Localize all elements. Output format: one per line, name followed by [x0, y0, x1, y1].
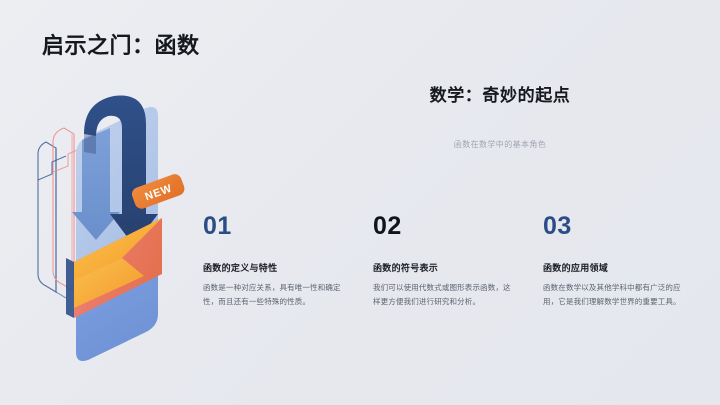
feature-body: 函数在数学以及其他学科中都有广泛的应用，它是我们理解数学世界的重要工具。: [543, 281, 685, 309]
hero-subtitle: 函数在数学中的基本角色: [335, 139, 665, 150]
hero-illustration: NEW: [22, 62, 232, 382]
feature-number: 01: [203, 214, 363, 239]
feature-heading: 函数的应用领域: [543, 261, 703, 274]
feature-heading: 函数的定义与特性: [203, 261, 363, 274]
feature-heading: 函数的符号表示: [373, 261, 533, 274]
feature-list: 01 函数的定义与特性 函数是一种对应关系，具有唯一性和确定性，而且还有一些特殊…: [203, 214, 703, 309]
feature-item-02: 02 函数的符号表示 我们可以使用代数式或图形表示函数，这样更方便我们进行研究和…: [373, 214, 533, 309]
hero-block: 数学：奇妙的起点 函数在数学中的基本角色: [335, 85, 665, 150]
page-title: 启示之门：函数: [42, 28, 200, 60]
feature-body: 我们可以使用代数式或图形表示函数，这样更方便我们进行研究和分析。: [373, 281, 515, 309]
feature-item-03: 03 函数的应用领域 函数在数学以及其他学科中都有广泛的应用，它是我们理解数学世…: [543, 214, 703, 309]
feature-number: 02: [373, 214, 533, 239]
feature-body: 函数是一种对应关系，具有唯一性和确定性，而且还有一些特殊的性质。: [203, 281, 345, 309]
hero-title: 数学：奇妙的起点: [335, 85, 665, 107]
presentation-slide: 启示之门：函数: [0, 0, 720, 405]
feature-number: 03: [543, 214, 703, 239]
feature-item-01: 01 函数的定义与特性 函数是一种对应关系，具有唯一性和确定性，而且还有一些特殊…: [203, 214, 363, 309]
